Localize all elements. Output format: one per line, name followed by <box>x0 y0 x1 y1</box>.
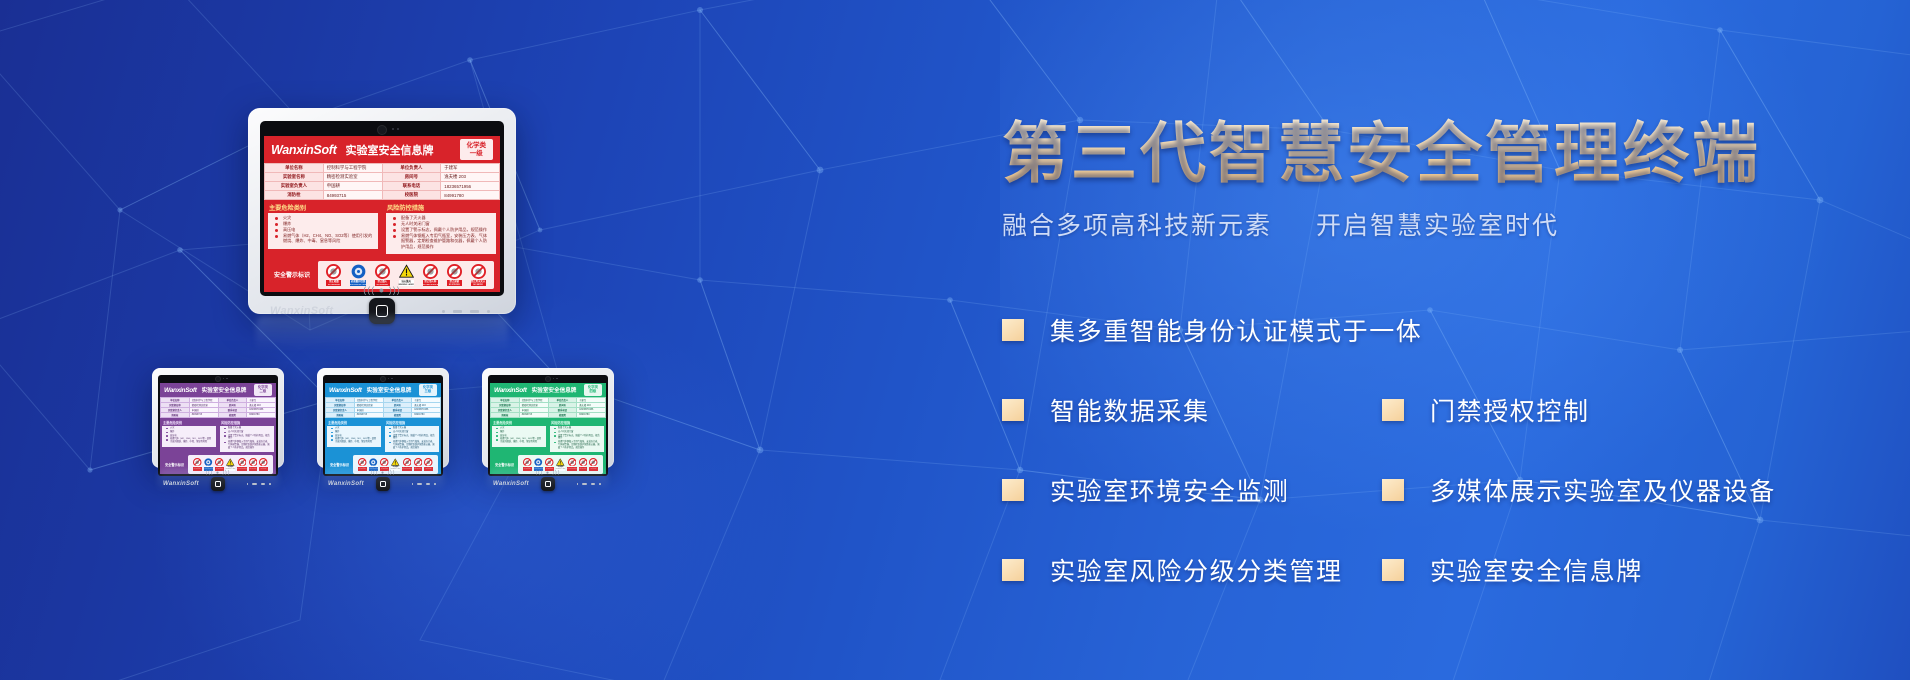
no-water-sign <box>424 458 433 467</box>
sign-caption: 禁止吸烟NO SMOKING <box>358 467 367 471</box>
sign-pictogram <box>326 264 341 279</box>
sign-pictogram <box>579 458 588 467</box>
measures-title: 风险防控措施 <box>548 418 606 426</box>
measures-column: 风险防控措施 配备了灭火器无人时关闭门窗设置了警示标志，佩戴个人防护用品，规范操… <box>382 200 500 258</box>
bullet-square-icon <box>1002 479 1024 501</box>
list-item: 易燃气体钢瓶入专用气瓶室，安装压力表、气体报警器，定期检查维护管路和仪器，佩戴个… <box>393 233 491 248</box>
sign-caption: 当心激光WARNING LASER <box>399 280 414 286</box>
main-tablet-device: WanxinSoft 实验室安全信息牌 化学类 一级 单位名称控制科学与工程学院… <box>248 108 516 314</box>
nfc-reader-icon: ((( ● ))) <box>536 470 561 476</box>
table-cell-label: 单位负责人 <box>382 164 441 173</box>
thumbnail-tablet-purple[interactable]: WanxinSoft实验室安全信息牌化学类二级单位名称控制科学与工程学院单位负责… <box>152 368 284 468</box>
sensor-dots-icon <box>553 378 558 379</box>
list-item: 易燃气体钢瓶入专用气瓶室，安装压力表、气体报警器，定期检查维护管路和仪器，佩戴个… <box>224 441 271 449</box>
home-button[interactable] <box>369 298 395 324</box>
list-item: 配备了灭火器 <box>393 215 491 220</box>
sign-pictogram <box>391 458 400 467</box>
sign-no-phone-sign: 禁止带火种NO FIRE SOURCE <box>423 264 438 286</box>
hazard-sections: 主要危险类别火灾爆炸高压电易燃气体（H2、CH4、NO、SO2等）使用引发的燃烧… <box>325 418 441 454</box>
no-smoking-sign <box>193 458 202 467</box>
feature-item-1-left[interactable]: 智能数据采集 <box>1002 392 1382 428</box>
table-cell-label: 消防栓 <box>326 413 355 418</box>
feature-item-3-left[interactable]: 实验室风险分级分类管理 <box>1002 552 1382 588</box>
table-cell-value: 控制科学与工程学院 <box>323 164 382 173</box>
lab-info-table-body: 单位名称控制科学与工程学院单位负责人于建军实验室名称精密检测实验室房间号逸夫楼 … <box>491 398 606 418</box>
screen-header: WanxinSoft实验室安全信息牌化学类四级 <box>490 383 606 397</box>
lab-info-table: 单位名称控制科学与工程学院单位负责人于建军实验室名称精密检测实验室房间号逸夫楼 … <box>490 397 606 418</box>
table-cell-label: 单位名称 <box>265 164 324 173</box>
feature-item-0-left[interactable]: 集多重智能身份认证模式于一体 <box>1002 312 1382 348</box>
bullet-square-icon <box>1382 559 1404 581</box>
no-water-sign <box>471 264 486 279</box>
list-item: 无人时关闭门窗 <box>224 431 271 434</box>
no-phone-sign <box>403 458 412 467</box>
badge-line-2: 四级 <box>590 389 597 393</box>
table-cell-value: 84993715 <box>354 413 383 418</box>
no-smoking-sign <box>523 458 532 467</box>
no-phone-sign <box>568 458 577 467</box>
sign-no-water-sign: 禁止用水灭火NO WATER <box>471 264 486 286</box>
hazards-title: 主要危险类别 <box>264 200 382 213</box>
table-cell-label: 校医院 <box>382 191 441 200</box>
feature-label: 多媒体展示实验室及仪器设备 <box>1430 472 1776 508</box>
lab-info-table: 单位名称控制科学与工程学院单位负责人于建军实验室名称精密检测实验室房间号逸夫楼 … <box>264 163 500 200</box>
chin-brand-logo: WanxinSoft <box>328 481 364 487</box>
no-entry-sign <box>414 458 423 467</box>
device-screen: WanxinSoft实验室安全信息牌化学类四级单位名称控制科学与工程学院单位负责… <box>490 383 606 474</box>
table-cell-label: 消防栓 <box>161 413 190 418</box>
chin-brand-logo: WanxinSoft <box>493 481 529 487</box>
sign-caption: 禁止逗留NO STAYING <box>249 467 258 471</box>
table-row: 实验室名称精密检测实验室房间号逸夫楼 203 <box>265 173 500 182</box>
badge-line-2: 一级 <box>470 150 483 157</box>
feature-row: 实验室环境安全监测多媒体展示实验室及仪器设备 <box>1002 472 1902 508</box>
brand-logo: WanxinSoft <box>494 387 527 394</box>
no-entry-sign <box>579 458 588 467</box>
hazards-title: 主要危险类别 <box>160 418 218 426</box>
table-cell-value: 84993715 <box>519 413 548 418</box>
sign-caption: 禁止吸烟NO SMOKING <box>523 467 532 471</box>
sign-caption: 禁止用水灭火NO WATER <box>589 467 598 471</box>
sign-pictogram <box>351 264 366 279</box>
sign-laser-warning-sign: 当心激光WARNING LASER <box>399 264 414 286</box>
safety-signs-label: 安全警示标识 <box>328 462 353 467</box>
sign-pictogram <box>545 458 554 467</box>
sign-wear-goggles-sign: 必须戴护目镜EYE PROTECTION <box>204 458 214 471</box>
sign-caption: 禁止带火种NO FIRE SOURCE <box>402 467 412 471</box>
table-cell-label: 校医院 <box>548 413 577 418</box>
device-bezel: WanxinSoft 实验室安全信息牌 化学类 一级 单位名称控制科学与工程学院… <box>260 121 504 296</box>
list-item: 无人时关闭门窗 <box>389 431 436 434</box>
sign-pictogram <box>523 458 532 467</box>
home-button[interactable] <box>541 477 555 491</box>
sign-pictogram <box>471 264 486 279</box>
sign-pictogram <box>403 458 412 467</box>
bullet-square-icon <box>1382 479 1404 501</box>
hazards-list: 火灾爆炸高压电易燃气体（H2、CH4、NO、SO2等）使用引发的燃烧、爆炸、中毒… <box>327 426 381 447</box>
device-chin: ((( ● )))WanxinSoft <box>158 476 278 493</box>
subtitle-left: 融合多项高科技新元素 <box>1002 212 1272 240</box>
screen-title: 实验室安全信息牌 <box>346 142 434 158</box>
sign-pictogram <box>215 458 224 467</box>
feature-label: 门禁授权控制 <box>1430 392 1590 428</box>
sign-caption: 禁止逗留NO STAYING <box>447 280 462 286</box>
feature-item-1-right[interactable]: 门禁授权控制 <box>1382 392 1590 428</box>
sign-pictogram <box>249 458 258 467</box>
thumbnail-tablet-blue[interactable]: WanxinSoft实验室安全信息牌化学类三级单位名称控制科学与工程学院单位负责… <box>317 368 449 468</box>
list-item: 设置了警示标志，佩戴个人防护用品，规范操作 <box>389 435 436 441</box>
page-title: 第三代智慧安全管理终端 <box>1002 118 1882 189</box>
sign-pictogram <box>556 458 565 467</box>
feature-item-2-left[interactable]: 实验室环境安全监测 <box>1002 472 1382 508</box>
sign-caption: 禁止带火种NO FIRE SOURCE <box>423 280 438 286</box>
table-cell-value: 84993715 <box>189 413 218 418</box>
sign-pictogram <box>568 458 577 467</box>
table-cell-value: 精密检测实验室 <box>323 173 382 182</box>
sign-caption: 禁止用水灭火NO WATER <box>471 280 486 286</box>
sign-pictogram <box>375 264 390 279</box>
list-item: 无人时关闭门窗 <box>393 221 491 226</box>
measures-list: 配备了灭火器无人时关闭门窗设置了警示标志，佩戴个人防护用品，规范操作易燃气体钢瓶… <box>220 426 274 452</box>
sign-pictogram <box>423 264 438 279</box>
table-row: 消防栓84993715校医院84991780 <box>326 413 441 418</box>
device-bezel: WanxinSoft实验室安全信息牌化学类二级单位名称控制科学与工程学院单位负责… <box>158 375 278 476</box>
sign-no-water-sign: 禁止用水灭火NO WATER <box>589 458 598 471</box>
sign-no-entry-sign: 禁止逗留NO STAYING <box>414 458 423 471</box>
safety-signs-row: 禁止吸烟NO SMOKING必须戴护目镜EYE PROTECTION禁止烟火NO… <box>518 455 603 474</box>
screen-header: WanxinSoft实验室安全信息牌化学类二级 <box>160 383 276 397</box>
front-camera-icon <box>546 377 550 381</box>
sign-laser-warning-sign: 当心激光WARNING LASER <box>226 458 235 471</box>
sensor-dots-icon <box>223 378 228 379</box>
front-camera-icon <box>378 126 386 134</box>
sign-caption: 禁止吸烟NO SMOKING <box>193 467 202 471</box>
bullet-square-icon <box>1002 319 1024 341</box>
no-water-sign <box>259 458 268 467</box>
nfc-reader-icon: ((( ● ))) <box>371 470 396 476</box>
hazards-title: 主要危险类别 <box>490 418 548 426</box>
bullet-square-icon <box>1002 559 1024 581</box>
list-item: 设置了警示标志，佩戴个人防护用品，规范操作 <box>393 227 491 232</box>
table-cell-label: 校医院 <box>218 413 247 418</box>
brand-logo: WanxinSoft <box>164 387 197 394</box>
safety-signs-row: 禁止吸烟NO SMOKING必须戴护目镜EYE PROTECTION禁止烟火NO… <box>188 455 273 474</box>
hazard-sections: 主要危险类别 火灾爆炸高压电易燃气体（H2、CH4、NO、SO2等）使用引发的燃… <box>264 200 500 258</box>
list-item: 配备了灭火器 <box>389 427 436 430</box>
table-cell-value: 申国耕 <box>323 182 382 191</box>
wear-goggles-sign <box>204 458 213 467</box>
badge-line-2: 三级 <box>425 389 432 393</box>
feature-row: 集多重智能身份认证模式于一体 <box>1002 312 1902 348</box>
measures-title: 风险防控措施 <box>218 418 276 426</box>
no-water-sign <box>589 458 598 467</box>
no-smoking-sign <box>326 264 341 279</box>
measures-list: 配备了灭火器无人时关闭门窗设置了警示标志，佩戴个人防护用品，规范操作易燃气体钢瓶… <box>385 426 439 452</box>
laser-warning-sign <box>399 264 414 279</box>
hazards-list: 火灾爆炸高压电易燃气体（H2、CH4、NO、SO2等）使用引发的燃烧、爆炸、中毒… <box>268 213 378 249</box>
safety-signs-row: 禁止吸烟NO SMOKING必须戴护目镜EYE PROTECTION禁止烟火NO… <box>353 455 438 474</box>
sign-pictogram <box>589 458 598 467</box>
measures-title: 风险防控措施 <box>382 200 500 213</box>
sign-no-entry-sign: 禁止逗留NO STAYING <box>249 458 258 471</box>
sign-no-smoking-sign: 禁止吸烟NO SMOKING <box>193 458 202 471</box>
hazards-title: 主要危险类别 <box>325 418 383 426</box>
sign-no-open-flame-sign: 禁止烟火NO BURNING <box>215 458 224 471</box>
list-item: 爆炸 <box>275 221 373 226</box>
no-entry-sign <box>249 458 258 467</box>
badge-line-2: 二级 <box>260 389 267 393</box>
list-item: 火灾 <box>166 427 213 430</box>
sign-laser-warning-sign: 当心激光WARNING LASER <box>556 458 565 471</box>
sign-wear-goggles-sign: 必须戴护目镜EYE PROTECTION <box>534 458 544 471</box>
list-item: 设置了警示标志，佩戴个人防护用品，规范操作 <box>224 435 271 441</box>
nfc-reader-icon: ((( ● ))) <box>363 285 400 295</box>
no-entry-sign <box>447 264 462 279</box>
sign-pictogram <box>204 458 213 467</box>
brand-logo: WanxinSoft <box>271 143 337 157</box>
hazards-list: 火灾爆炸高压电易燃气体（H2、CH4、NO、SO2等）使用引发的燃烧、爆炸、中毒… <box>492 426 546 447</box>
sign-no-phone-sign: 禁止带火种NO FIRE SOURCE <box>402 458 412 471</box>
feature-label: 集多重智能身份认证模式于一体 <box>1050 312 1422 348</box>
table-cell-value: 于建军 <box>441 164 500 173</box>
hero-copy: 第三代智慧安全管理终端 融合多项高科技新元素开启智慧实验室时代 <box>1002 118 1882 242</box>
table-cell-label: 消防栓 <box>491 413 520 418</box>
sign-caption: 禁止吸烟NO SMOKING <box>326 280 341 286</box>
sensor-dots-icon <box>388 378 393 379</box>
sign-pictogram <box>399 264 414 279</box>
table-cell-label: 消防栓 <box>265 191 324 200</box>
sign-no-open-flame-sign: 禁止烟火NO BURNING <box>545 458 554 471</box>
measures-list: 配备了灭火器无人时关闭门窗设置了警示标志，佩戴个人防护用品，规范操作易燃气体钢瓶… <box>550 426 604 452</box>
table-cell-label: 实验室名称 <box>265 173 324 182</box>
thumbnail-tablet-green[interactable]: WanxinSoft实验室安全信息牌化学类四级单位名称控制科学与工程学院单位负责… <box>482 368 614 468</box>
sign-caption: 禁止用水灭火NO WATER <box>424 467 433 471</box>
screen-title: 实验室安全信息牌 <box>367 386 412 394</box>
table-row: 消防栓84993715校医院84991780 <box>161 413 276 418</box>
hazards-column: 主要危险类别 火灾爆炸高压电易燃气体（H2、CH4、NO、SO2等）使用引发的燃… <box>264 200 382 258</box>
screen-header: WanxinSoft 实验室安全信息牌 化学类 一级 <box>264 136 500 163</box>
feature-item-2-right[interactable]: 多媒体展示实验室及仪器设备 <box>1382 472 1776 508</box>
list-item: 配备了灭火器 <box>554 427 601 430</box>
list-item: 火灾 <box>331 427 378 430</box>
list-item: 火灾 <box>275 215 373 220</box>
list-item: 高压电 <box>275 227 373 232</box>
lab-info-table: 单位名称控制科学与工程学院单位负责人于建军实验室名称精密检测实验室房间号逸夫楼 … <box>325 397 441 418</box>
safety-signs-row: 禁止吸烟NO SMOKING必须戴护目镜EYE PROTECTION禁止烟火NO… <box>318 261 494 289</box>
sign-no-water-sign: 禁止用水灭火NO WATER <box>259 458 268 471</box>
no-open-flame-sign <box>215 458 224 467</box>
lab-info-table: 单位名称控制科学与工程学院单位负责人于建军实验室名称精密检测实验室房间号逸夫楼 … <box>160 397 276 418</box>
table-cell-label: 校医院 <box>383 413 412 418</box>
feature-label: 实验室风险分级分类管理 <box>1050 552 1343 588</box>
table-row: 消防栓84993715校医院84991780 <box>491 413 606 418</box>
sign-pictogram <box>424 458 433 467</box>
screen-title: 实验室安全信息牌 <box>532 386 577 394</box>
device-bezel: WanxinSoft实验室安全信息牌化学类三级单位名称控制科学与工程学院单位负责… <box>323 375 443 476</box>
feature-label: 实验室安全信息牌 <box>1430 552 1643 588</box>
table-cell-value: 84993715 <box>323 191 382 200</box>
bullet-square-icon <box>1382 399 1404 421</box>
wear-goggles-sign <box>369 458 378 467</box>
lab-info-table-body: 单位名称控制科学与工程学院单位负责人于建军实验室名称精密检测实验室房间号逸夫楼 … <box>161 398 276 418</box>
list-item: 设置了警示标志，佩戴个人防护用品，规范操作 <box>554 435 601 441</box>
sign-pictogram <box>193 458 202 467</box>
hero-banner: WanxinSoft 实验室安全信息牌 化学类 一级 单位名称控制科学与工程学院… <box>0 0 1910 680</box>
table-row: 单位名称控制科学与工程学院单位负责人于建军 <box>265 164 500 173</box>
device-chin: ((( ● )))WanxinSoft <box>323 476 443 493</box>
table-cell-value: 18236571956 <box>441 182 500 191</box>
sign-caption: 禁止带火种NO FIRE SOURCE <box>237 467 247 471</box>
hazard-class-badge: 化学类二级 <box>254 384 272 396</box>
home-button[interactable] <box>376 477 390 491</box>
wear-goggles-sign <box>351 264 366 279</box>
front-camera-icon <box>216 377 220 381</box>
measures-title: 风险防控措施 <box>383 418 441 426</box>
chin-brand-logo: WanxinSoft <box>163 481 199 487</box>
safety-signs-label: 安全警示标识 <box>493 462 518 467</box>
table-row: 实验室负责人申国耕联系电话18236571956 <box>265 182 500 191</box>
sign-no-water-sign: 禁止用水灭火NO WATER <box>424 458 433 471</box>
lab-info-table-body: 单位名称控制科学与工程学院单位负责人于建军实验室名称精密检测实验室房间号逸夫楼 … <box>326 398 441 418</box>
sign-no-phone-sign: 禁止带火种NO FIRE SOURCE <box>237 458 247 471</box>
no-open-flame-sign <box>375 264 390 279</box>
page-subtitle: 融合多项高科技新元素开启智慧实验室时代 <box>1002 206 1882 242</box>
table-cell-label: 实验室负责人 <box>265 182 324 191</box>
table-cell-label: 房间号 <box>382 173 441 182</box>
status-indicators <box>442 310 490 313</box>
list-item: 高压电 <box>496 435 543 438</box>
hazard-class-badge: 化学类四级 <box>584 384 602 396</box>
list-item: 易燃气体（H2、CH4、NO、SO2等）使用引发的燃烧、爆炸、中毒、窒息等风险 <box>166 438 213 444</box>
feature-label: 实验室环境安全监测 <box>1050 472 1289 508</box>
screen-header: WanxinSoft实验室安全信息牌化学类三级 <box>325 383 441 397</box>
list-item: 易燃气体（H2、CH4、NO、SO2等）使用引发的燃烧、爆炸、中毒、窒息等风险 <box>496 438 543 444</box>
list-item: 爆炸 <box>496 431 543 434</box>
list-item: 火灾 <box>496 427 543 430</box>
sign-no-open-flame-sign: 禁止烟火NO BURNING <box>375 264 390 286</box>
no-phone-sign <box>423 264 438 279</box>
sign-pictogram <box>380 458 389 467</box>
list-item: 易燃气体钢瓶入专用气瓶室，安装压力表、气体报警器，定期检查维护管路和仪器，佩戴个… <box>554 441 601 449</box>
sign-caption: 禁止逗留NO STAYING <box>414 467 423 471</box>
list-item: 高压电 <box>166 435 213 438</box>
list-item: 爆炸 <box>331 431 378 434</box>
sign-pictogram <box>534 458 543 467</box>
nfc-reader-icon: ((( ● ))) <box>206 470 231 476</box>
feature-list: 集多重智能身份认证模式于一体智能数据采集门禁授权控制实验室环境安全监测多媒体展示… <box>1002 312 1902 632</box>
table-cell-value: 84991780 <box>577 413 606 418</box>
device-screen: WanxinSoft实验室安全信息牌化学类三级单位名称控制科学与工程学院单位负责… <box>325 383 441 474</box>
sign-no-smoking-sign: 禁止吸烟NO SMOKING <box>358 458 367 471</box>
no-phone-sign <box>238 458 247 467</box>
sign-pictogram <box>358 458 367 467</box>
wear-goggles-sign <box>534 458 543 467</box>
home-button[interactable] <box>211 477 225 491</box>
table-cell-value: 逸夫楼 203 <box>441 173 500 182</box>
sensor-dots-icon <box>392 128 399 130</box>
hazard-sections: 主要危险类别火灾爆炸高压电易燃气体（H2、CH4、NO、SO2等）使用引发的燃烧… <box>160 418 276 454</box>
list-item: 易燃气体（H2、CH4、NO、SO2等）使用引发的燃烧、爆炸、中毒、窒息等风险 <box>331 438 378 444</box>
status-indicators <box>577 483 601 485</box>
screen-title: 实验室安全信息牌 <box>202 386 247 394</box>
device-chin: ((( ● )))WanxinSoft <box>488 476 608 493</box>
no-open-flame-sign <box>380 458 389 467</box>
bullet-square-icon <box>1002 399 1024 421</box>
sign-caption: 禁止带火种NO FIRE SOURCE <box>567 467 577 471</box>
table-cell-label: 联系电话 <box>382 182 441 191</box>
device-screen: WanxinSoft实验室安全信息牌化学类二级单位名称控制科学与工程学院单位负责… <box>160 383 276 474</box>
hazards-list: 火灾爆炸高压电易燃气体（H2、CH4、NO、SO2等）使用引发的燃烧、爆炸、中毒… <box>162 426 216 447</box>
measures-list: 配备了灭火器无人时关闭门窗设置了警示标志，佩戴个人防护用品，规范操作易燃气体钢瓶… <box>386 213 496 254</box>
sign-no-entry-sign: 禁止逗留NO STAYING <box>579 458 588 471</box>
feature-row: 智能数据采集门禁授权控制 <box>1002 392 1902 428</box>
sign-pictogram <box>447 264 462 279</box>
list-item: 配备了灭火器 <box>224 427 271 430</box>
list-item: 无人时关闭门窗 <box>554 431 601 434</box>
hazard-sections: 主要危险类别火灾爆炸高压电易燃气体（H2、CH4、NO、SO2等）使用引发的燃烧… <box>490 418 606 454</box>
feature-label: 智能数据采集 <box>1050 392 1210 428</box>
table-cell-value: 84991780 <box>412 413 441 418</box>
table-row: 消防栓84993715校医院84991780 <box>265 191 500 200</box>
table-cell-value: 84991780 <box>247 413 276 418</box>
sign-wear-goggles-sign: 必须戴护目镜EYE PROTECTION <box>350 264 366 286</box>
sign-wear-goggles-sign: 必须戴护目镜EYE PROTECTION <box>369 458 379 471</box>
list-item: 易燃气体钢瓶入专用气瓶室，安装压力表、气体报警器，定期检查维护管路和仪器，佩戴个… <box>389 441 436 449</box>
sign-pictogram <box>238 458 247 467</box>
status-indicators <box>247 483 271 485</box>
brand-logo: WanxinSoft <box>329 387 362 394</box>
sign-no-smoking-sign: 禁止吸烟NO SMOKING <box>523 458 532 471</box>
list-item: 易燃气体（H2、CH4、NO、SO2等）使用引发的燃烧、爆炸、中毒、窒息等风险 <box>275 233 373 243</box>
device-screen: WanxinSoft 实验室安全信息牌 化学类 一级 单位名称控制科学与工程学院… <box>264 136 500 292</box>
badge-line-1: 化学类 <box>467 142 487 149</box>
laser-warning-sign <box>391 458 400 467</box>
feature-row: 实验室风险分级分类管理实验室安全信息牌 <box>1002 552 1902 588</box>
sign-pictogram <box>414 458 423 467</box>
safety-signs-label: 安全警示标识 <box>270 270 318 279</box>
safety-signs-label: 安全警示标识 <box>163 462 188 467</box>
sign-laser-warning-sign: 当心激光WARNING LASER <box>391 458 400 471</box>
feature-item-3-right[interactable]: 实验室安全信息牌 <box>1382 552 1643 588</box>
chin-brand-logo: WanxinSoft <box>270 305 333 317</box>
sign-caption: 禁止逗留NO STAYING <box>579 467 588 471</box>
list-item: 爆炸 <box>166 431 213 434</box>
sign-pictogram <box>369 458 378 467</box>
status-indicators <box>412 483 436 485</box>
front-camera-icon <box>381 377 385 381</box>
hazard-class-badge: 化学类三级 <box>419 384 437 396</box>
sign-no-entry-sign: 禁止逗留NO STAYING <box>447 264 462 286</box>
list-item: 高压电 <box>331 435 378 438</box>
table-cell-value: 84991780 <box>441 191 500 200</box>
hazard-class-badge: 化学类 一级 <box>460 139 494 160</box>
no-open-flame-sign <box>545 458 554 467</box>
lab-info-table-body: 单位名称控制科学与工程学院单位负责人于建军实验室名称精密检测实验室房间号逸夫楼 … <box>265 164 500 200</box>
sign-pictogram <box>259 458 268 467</box>
sign-no-smoking-sign: 禁止吸烟NO SMOKING <box>326 264 341 286</box>
device-bezel: WanxinSoft实验室安全信息牌化学类四级单位名称控制科学与工程学院单位负责… <box>488 375 608 476</box>
no-smoking-sign <box>358 458 367 467</box>
laser-warning-sign <box>556 458 565 467</box>
sign-no-open-flame-sign: 禁止烟火NO BURNING <box>380 458 389 471</box>
sign-caption: 禁止用水灭火NO WATER <box>259 467 268 471</box>
laser-warning-sign <box>226 458 235 467</box>
sign-no-phone-sign: 禁止带火种NO FIRE SOURCE <box>567 458 577 471</box>
subtitle-right: 开启智慧实验室时代 <box>1316 212 1559 240</box>
sign-pictogram <box>226 458 235 467</box>
device-chin: ((( ● ))) WanxinSoft <box>260 296 504 330</box>
